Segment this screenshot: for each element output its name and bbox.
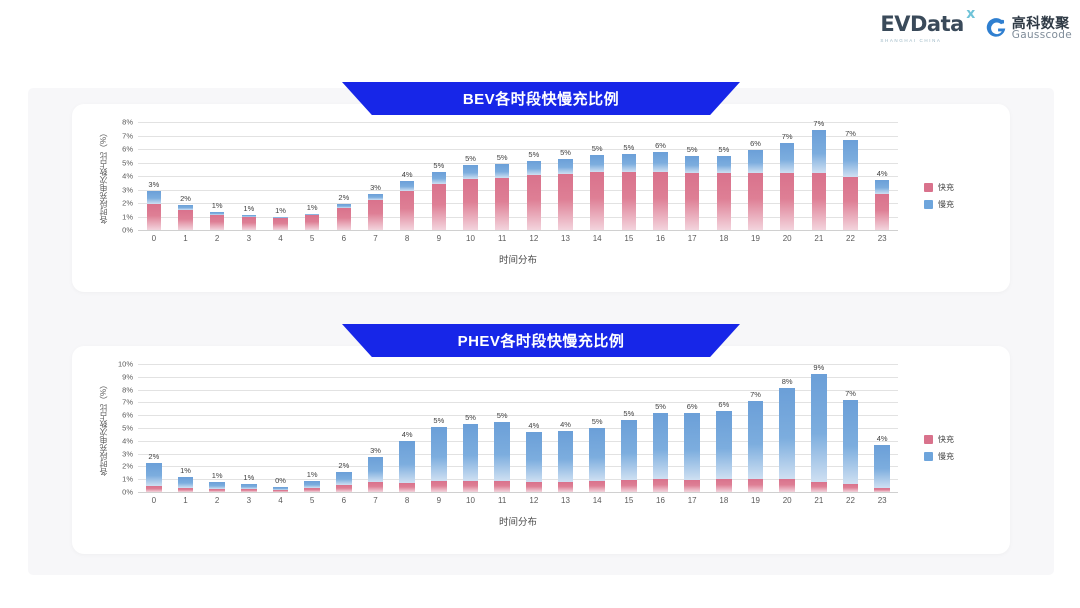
bev-y-tick: 6% bbox=[122, 145, 133, 154]
bev-bar-12[interactable] bbox=[527, 161, 542, 230]
legend-swatch-icon bbox=[924, 435, 933, 444]
bev-x-tick-10: 10 bbox=[466, 234, 475, 243]
phev-bar-label-3: 1% bbox=[243, 473, 254, 482]
phev-bar-19[interactable] bbox=[748, 401, 764, 492]
bev-bar-19[interactable] bbox=[748, 150, 763, 230]
fast-charge-segment bbox=[780, 173, 795, 230]
phev-bar-5[interactable] bbox=[304, 481, 320, 492]
phev-bar-17[interactable] bbox=[684, 413, 700, 492]
bev-y-tick: 3% bbox=[122, 185, 133, 194]
bev-y-tick: 8% bbox=[122, 118, 133, 127]
slow-charge-segment bbox=[779, 388, 795, 479]
bev-x-tick-18: 18 bbox=[719, 234, 728, 243]
bev-bar-5[interactable] bbox=[305, 214, 320, 230]
bev-bar-13[interactable] bbox=[558, 159, 573, 230]
phev-bar-4[interactable] bbox=[273, 487, 289, 492]
phev-chart-card: 各时段充电次数占比（%）0%1%2%3%4%5%6%7%8%9%10%2%01%… bbox=[72, 346, 1010, 554]
bev-y-tick: 7% bbox=[122, 131, 133, 140]
phev-chart-title-ribbon: PHEV各时段快慢充比例 bbox=[342, 324, 740, 357]
bev-y-tick: 4% bbox=[122, 172, 133, 181]
evdata-text: EVData bbox=[880, 12, 963, 36]
bev-bar-15[interactable] bbox=[622, 154, 637, 230]
phev-x-tick-2: 2 bbox=[215, 496, 219, 505]
slow-charge-segment bbox=[653, 413, 669, 480]
gausscode-mark-icon bbox=[986, 18, 1007, 39]
bev-bar-label-10: 5% bbox=[465, 154, 476, 163]
slow-charge-segment bbox=[685, 156, 700, 174]
phev-x-tick-15: 15 bbox=[624, 496, 633, 505]
fast-charge-segment bbox=[811, 482, 827, 492]
bev-y-axis-label: 各时段充电次数占比（%） bbox=[98, 122, 109, 230]
gausscode-logo: 高科数聚 Gausscode bbox=[974, 16, 1072, 42]
phev-x-tick-3: 3 bbox=[247, 496, 251, 505]
phev-bar-label-21: 9% bbox=[813, 363, 824, 372]
slow-charge-segment bbox=[463, 165, 478, 179]
slow-charge-segment bbox=[527, 161, 542, 175]
phev-bar-6[interactable] bbox=[336, 472, 352, 492]
bev-bar-18[interactable] bbox=[717, 156, 732, 230]
bev-x-tick-16: 16 bbox=[656, 234, 665, 243]
slow-charge-segment bbox=[875, 180, 890, 194]
slow-charge-segment bbox=[368, 194, 383, 201]
fast-charge-segment bbox=[242, 217, 257, 230]
fast-charge-segment bbox=[621, 480, 637, 492]
phev-bar-label-7: 3% bbox=[370, 446, 381, 455]
slow-charge-segment bbox=[622, 154, 637, 172]
fast-charge-segment bbox=[337, 208, 352, 230]
gausscode-name-en: Gausscode bbox=[1012, 30, 1072, 41]
phev-bar-label-20: 8% bbox=[782, 377, 793, 386]
bev-bar-11[interactable] bbox=[495, 164, 510, 230]
bev-bar-9[interactable] bbox=[432, 172, 447, 230]
slow-charge-segment bbox=[589, 428, 605, 481]
bev-bar-label-18: 5% bbox=[718, 145, 729, 154]
bev-chart-card: 各时段充电次数占比（%）0%1%2%3%4%5%6%7%8%3%02%11%21… bbox=[72, 104, 1010, 292]
slow-charge-segment bbox=[495, 164, 510, 178]
bev-bar-14[interactable] bbox=[590, 155, 605, 230]
bev-legend: 快充慢充 bbox=[924, 182, 954, 210]
slow-charge-segment bbox=[147, 191, 162, 204]
phev-bar-label-16: 5% bbox=[655, 402, 666, 411]
fast-charge-segment bbox=[812, 173, 827, 230]
phev-x-tick-17: 17 bbox=[688, 496, 697, 505]
fast-charge-segment bbox=[147, 204, 162, 230]
bev-bar-label-1: 2% bbox=[180, 194, 191, 203]
legend-swatch-icon bbox=[924, 200, 933, 209]
phev-y-tick: 2% bbox=[122, 462, 133, 471]
fast-charge-segment bbox=[558, 482, 574, 492]
bev-bar-3[interactable] bbox=[242, 215, 257, 230]
phev-bar-14[interactable] bbox=[589, 428, 605, 492]
fast-charge-segment bbox=[779, 479, 795, 492]
bev-x-tick-3: 3 bbox=[247, 234, 251, 243]
phev-x-tick-16: 16 bbox=[656, 496, 665, 505]
bev-bar-label-19: 6% bbox=[750, 139, 761, 148]
bev-bar-label-0: 3% bbox=[148, 180, 159, 189]
phev-x-tick-4: 4 bbox=[278, 496, 282, 505]
phev-chart: 各时段充电次数占比（%）0%1%2%3%4%5%6%7%8%9%10%2%01%… bbox=[72, 346, 1010, 554]
bev-bar-17[interactable] bbox=[685, 156, 700, 230]
bev-x-tick-20: 20 bbox=[783, 234, 792, 243]
slow-charge-segment bbox=[494, 422, 510, 482]
bev-x-tick-15: 15 bbox=[624, 234, 633, 243]
evdata-subtitle: SHANGHAI CHINA bbox=[880, 38, 941, 43]
bev-bar-label-3: 1% bbox=[243, 204, 254, 213]
phev-bar-label-19: 7% bbox=[750, 390, 761, 399]
phev-x-tick-20: 20 bbox=[783, 496, 792, 505]
bev-x-tick-23: 23 bbox=[878, 234, 887, 243]
bev-bar-1[interactable] bbox=[178, 205, 193, 230]
phev-bar-label-23: 4% bbox=[877, 434, 888, 443]
bev-bar-23[interactable] bbox=[875, 180, 890, 230]
fast-charge-segment bbox=[526, 482, 542, 492]
bev-x-tick-21: 21 bbox=[814, 234, 823, 243]
bev-bar-label-15: 5% bbox=[623, 143, 634, 152]
phev-bar-label-5: 1% bbox=[307, 470, 318, 479]
slow-charge-segment bbox=[812, 130, 827, 173]
bev-x-tick-11: 11 bbox=[498, 234, 506, 243]
gausscode-name-cn: 高科数聚 bbox=[1012, 16, 1072, 31]
phev-bar-9[interactable] bbox=[431, 427, 447, 492]
phev-bar-12[interactable] bbox=[526, 432, 542, 492]
phev-bar-11[interactable] bbox=[494, 422, 510, 492]
phev-legend: 快充慢充 bbox=[924, 434, 954, 462]
bev-x-tick-9: 9 bbox=[437, 234, 441, 243]
bev-bar-label-4: 1% bbox=[275, 206, 286, 215]
fast-charge-segment bbox=[494, 481, 510, 492]
bev-bar-label-8: 4% bbox=[402, 170, 413, 179]
bev-bar-label-12: 5% bbox=[528, 150, 539, 159]
slow-charge-segment bbox=[590, 155, 605, 172]
phev-bar-21[interactable] bbox=[811, 374, 827, 492]
evdata-logo: EVData x SHANGHAI CHINA bbox=[880, 14, 963, 43]
slow-charge-segment bbox=[463, 424, 479, 481]
fast-charge-segment bbox=[368, 482, 384, 492]
phev-bar-3[interactable] bbox=[241, 484, 257, 492]
slow-charge-segment bbox=[431, 427, 447, 481]
fast-charge-segment bbox=[210, 215, 225, 230]
phev-bar-22[interactable] bbox=[843, 400, 859, 492]
slow-charge-segment bbox=[146, 463, 162, 486]
phev-y-tick: 5% bbox=[122, 424, 133, 433]
slow-charge-segment bbox=[558, 431, 574, 482]
slow-charge-segment bbox=[874, 445, 890, 487]
bev-x-tick-4: 4 bbox=[278, 234, 282, 243]
fast-charge-segment bbox=[432, 184, 447, 230]
slow-charge-segment bbox=[368, 457, 384, 481]
phev-y-axis-label: 各时段充电次数占比（%） bbox=[98, 364, 109, 492]
fast-charge-segment bbox=[558, 174, 573, 230]
bev-bar-label-21: 7% bbox=[813, 119, 824, 128]
fast-charge-segment bbox=[748, 479, 764, 492]
bev-bar-4[interactable] bbox=[273, 217, 288, 230]
fast-charge-segment bbox=[241, 489, 257, 492]
slow-charge-segment bbox=[716, 411, 732, 479]
phev-bar-15[interactable] bbox=[621, 420, 637, 492]
gausscode-text: 高科数聚 Gausscode bbox=[1012, 16, 1072, 42]
bev-bar-label-13: 5% bbox=[560, 148, 571, 157]
bev-bar-label-22: 7% bbox=[845, 129, 856, 138]
bev-y-tick: 0% bbox=[122, 226, 133, 235]
fast-charge-segment bbox=[273, 218, 288, 230]
bev-bar-8[interactable] bbox=[400, 181, 415, 230]
phev-y-tick: 8% bbox=[122, 385, 133, 394]
phev-bar-label-6: 2% bbox=[338, 461, 349, 470]
slow-charge-segment bbox=[811, 374, 827, 482]
bev-bar-label-20: 7% bbox=[782, 132, 793, 141]
evdata-x-icon: x bbox=[966, 7, 975, 21]
slow-charge-segment bbox=[621, 420, 637, 480]
fast-charge-segment bbox=[178, 210, 193, 230]
fast-charge-segment bbox=[653, 172, 668, 230]
phev-bar-label-4: 0% bbox=[275, 476, 286, 485]
phev-chart-title: PHEV各时段快慢充比例 bbox=[458, 330, 625, 351]
legend-item-慢充[interactable]: 慢充 bbox=[924, 451, 954, 462]
slow-charge-segment bbox=[558, 159, 573, 174]
bev-bar-label-14: 5% bbox=[592, 144, 603, 153]
bev-bar-label-9: 5% bbox=[433, 161, 444, 170]
fast-charge-segment bbox=[305, 215, 320, 230]
slow-charge-segment bbox=[748, 150, 763, 173]
phev-bar-23[interactable] bbox=[874, 445, 890, 492]
slow-charge-segment bbox=[780, 143, 795, 173]
logo-group: EVData x SHANGHAI CHINA 高科数聚 Gausscode bbox=[880, 14, 1072, 43]
phev-x-tick-11: 11 bbox=[498, 496, 506, 505]
fast-charge-segment bbox=[146, 486, 162, 492]
phev-bar-label-10: 5% bbox=[465, 413, 476, 422]
phev-x-tick-14: 14 bbox=[593, 496, 602, 505]
gridline bbox=[138, 364, 898, 365]
bev-bar-label-5: 1% bbox=[307, 203, 318, 212]
gridline bbox=[138, 122, 898, 123]
bev-bar-label-17: 5% bbox=[687, 145, 698, 154]
slow-charge-segment bbox=[304, 481, 320, 488]
slow-charge-segment bbox=[400, 181, 415, 191]
phev-x-tick-12: 12 bbox=[529, 496, 538, 505]
fast-charge-segment bbox=[875, 194, 890, 230]
bev-bar-7[interactable] bbox=[368, 194, 383, 230]
legend-label: 慢充 bbox=[938, 199, 954, 210]
bev-x-tick-13: 13 bbox=[561, 234, 570, 243]
fast-charge-segment bbox=[589, 481, 605, 492]
fast-charge-segment bbox=[431, 481, 447, 492]
slow-charge-segment bbox=[717, 156, 732, 173]
phev-x-tick-19: 19 bbox=[751, 496, 760, 505]
phev-bar-label-18: 6% bbox=[718, 400, 729, 409]
slow-charge-segment bbox=[209, 482, 225, 489]
slow-charge-segment bbox=[653, 152, 668, 172]
phev-y-tick: 10% bbox=[118, 360, 133, 369]
slow-charge-segment bbox=[843, 140, 858, 178]
bev-x-tick-22: 22 bbox=[846, 234, 855, 243]
phev-bar-16[interactable] bbox=[653, 413, 669, 492]
bev-bar-label-11: 5% bbox=[497, 153, 508, 162]
phev-y-tick: 7% bbox=[122, 398, 133, 407]
fast-charge-segment bbox=[843, 177, 858, 230]
slow-charge-segment bbox=[432, 172, 447, 184]
phev-bar-label-2: 1% bbox=[212, 471, 223, 480]
phev-bar-2[interactable] bbox=[209, 482, 225, 492]
bev-bar-label-7: 3% bbox=[370, 183, 381, 192]
legend-label: 快充 bbox=[938, 182, 954, 193]
phev-bar-0[interactable] bbox=[146, 463, 162, 492]
fast-charge-segment bbox=[400, 191, 415, 230]
phev-bar-18[interactable] bbox=[716, 411, 732, 492]
fast-charge-segment bbox=[399, 483, 415, 492]
bev-bar-10[interactable] bbox=[463, 165, 478, 230]
phev-bar-label-15: 5% bbox=[623, 409, 634, 418]
phev-bar-1[interactable] bbox=[178, 477, 194, 492]
slow-charge-segment bbox=[526, 432, 542, 482]
bev-x-tick-8: 8 bbox=[405, 234, 409, 243]
bev-x-tick-6: 6 bbox=[342, 234, 346, 243]
fast-charge-segment bbox=[495, 178, 510, 230]
phev-y-tick: 6% bbox=[122, 411, 133, 420]
legend-item-慢充[interactable]: 慢充 bbox=[924, 199, 954, 210]
phev-bar-label-22: 7% bbox=[845, 389, 856, 398]
fast-charge-segment bbox=[368, 200, 383, 230]
page-header: EVData x SHANGHAI CHINA 高科数聚 Gausscode bbox=[0, 0, 1080, 62]
fast-charge-segment bbox=[685, 173, 700, 230]
phev-x-tick-5: 5 bbox=[310, 496, 314, 505]
legend-swatch-icon bbox=[924, 183, 933, 192]
phev-x-tick-21: 21 bbox=[814, 496, 823, 505]
legend-label: 慢充 bbox=[938, 451, 954, 462]
bev-x-axis-title: 时间分布 bbox=[138, 252, 898, 266]
x-axis-line bbox=[138, 492, 898, 493]
fast-charge-segment bbox=[717, 173, 732, 230]
legend-item-快充[interactable]: 快充 bbox=[924, 182, 954, 193]
bev-x-tick-19: 19 bbox=[751, 234, 760, 243]
phev-bar-label-12: 4% bbox=[528, 421, 539, 430]
bev-bar-20[interactable] bbox=[780, 143, 795, 230]
phev-y-tick: 4% bbox=[122, 436, 133, 445]
bev-bar-label-16: 6% bbox=[655, 141, 666, 150]
phev-x-tick-13: 13 bbox=[561, 496, 570, 505]
phev-bar-label-0: 2% bbox=[148, 452, 159, 461]
legend-label: 快充 bbox=[938, 434, 954, 445]
phev-x-tick-23: 23 bbox=[878, 496, 887, 505]
phev-bar-label-14: 5% bbox=[592, 417, 603, 426]
phev-bar-13[interactable] bbox=[558, 431, 574, 492]
phev-x-tick-7: 7 bbox=[373, 496, 377, 505]
fast-charge-segment bbox=[463, 179, 478, 230]
bev-bar-21[interactable] bbox=[812, 130, 827, 230]
phev-bar-label-8: 4% bbox=[402, 430, 413, 439]
slow-charge-segment bbox=[843, 400, 859, 484]
fast-charge-segment bbox=[748, 173, 763, 230]
bev-bar-2[interactable] bbox=[210, 212, 225, 230]
phev-bar-label-11: 5% bbox=[497, 411, 508, 420]
fast-charge-segment bbox=[843, 484, 859, 492]
bev-bar-0[interactable] bbox=[147, 191, 162, 230]
phev-bar-8[interactable] bbox=[399, 441, 415, 492]
bev-x-tick-0: 0 bbox=[152, 234, 156, 243]
phev-bar-label-9: 5% bbox=[433, 416, 444, 425]
fast-charge-segment bbox=[653, 479, 669, 492]
fast-charge-segment bbox=[622, 172, 637, 230]
bev-chart-title: BEV各时段快慢充比例 bbox=[463, 88, 619, 109]
bev-x-tick-2: 2 bbox=[215, 234, 219, 243]
phev-bar-label-13: 4% bbox=[560, 420, 571, 429]
phev-x-axis-title: 时间分布 bbox=[138, 514, 898, 528]
bev-bar-16[interactable] bbox=[653, 152, 668, 230]
legend-item-快充[interactable]: 快充 bbox=[924, 434, 954, 445]
phev-bar-7[interactable] bbox=[368, 457, 384, 492]
phev-x-tick-8: 8 bbox=[405, 496, 409, 505]
slow-charge-segment bbox=[178, 477, 194, 489]
bev-bar-label-23: 4% bbox=[877, 169, 888, 178]
phev-bar-10[interactable] bbox=[463, 424, 479, 492]
fast-charge-segment bbox=[273, 490, 289, 492]
bev-x-tick-14: 14 bbox=[593, 234, 602, 243]
bev-bar-6[interactable] bbox=[337, 204, 352, 230]
phev-bar-label-1: 1% bbox=[180, 466, 191, 475]
bev-bar-22[interactable] bbox=[843, 140, 858, 230]
fast-charge-segment bbox=[209, 489, 225, 492]
bev-x-tick-7: 7 bbox=[373, 234, 377, 243]
fast-charge-segment bbox=[336, 485, 352, 492]
evdata-wordmark: EVData x bbox=[880, 14, 963, 35]
fast-charge-segment bbox=[590, 172, 605, 230]
bev-y-tick: 2% bbox=[122, 199, 133, 208]
phev-x-tick-10: 10 bbox=[466, 496, 475, 505]
fast-charge-segment bbox=[716, 479, 732, 492]
fast-charge-segment bbox=[527, 175, 542, 230]
fast-charge-segment bbox=[304, 488, 320, 492]
bev-y-tick: 1% bbox=[122, 212, 133, 221]
phev-bar-20[interactable] bbox=[779, 388, 795, 492]
x-axis-line bbox=[138, 230, 898, 231]
phev-y-tick: 0% bbox=[122, 488, 133, 497]
phev-x-tick-18: 18 bbox=[719, 496, 728, 505]
bev-x-tick-1: 1 bbox=[183, 234, 187, 243]
bev-x-tick-12: 12 bbox=[529, 234, 538, 243]
fast-charge-segment bbox=[684, 480, 700, 492]
bev-x-tick-17: 17 bbox=[688, 234, 697, 243]
phev-y-tick: 3% bbox=[122, 449, 133, 458]
slow-charge-segment bbox=[399, 441, 415, 483]
slow-charge-segment bbox=[336, 472, 352, 485]
bev-bar-label-2: 1% bbox=[212, 201, 223, 210]
phev-y-tick: 9% bbox=[122, 372, 133, 381]
bev-x-tick-5: 5 bbox=[310, 234, 314, 243]
phev-x-tick-22: 22 bbox=[846, 496, 855, 505]
phev-x-tick-0: 0 bbox=[152, 496, 156, 505]
phev-y-tick: 1% bbox=[122, 475, 133, 484]
slow-charge-segment bbox=[748, 401, 764, 479]
bev-y-tick: 5% bbox=[122, 158, 133, 167]
phev-x-tick-6: 6 bbox=[342, 496, 346, 505]
bev-bar-label-6: 2% bbox=[338, 193, 349, 202]
slow-charge-segment bbox=[684, 413, 700, 480]
legend-swatch-icon bbox=[924, 452, 933, 461]
bev-chart: 各时段充电次数占比（%）0%1%2%3%4%5%6%7%8%3%02%11%21… bbox=[72, 104, 1010, 292]
bev-chart-title-ribbon: BEV各时段快慢充比例 bbox=[342, 82, 740, 115]
fast-charge-segment bbox=[874, 488, 890, 492]
phev-x-tick-9: 9 bbox=[437, 496, 441, 505]
fast-charge-segment bbox=[463, 481, 479, 492]
phev-x-tick-1: 1 bbox=[183, 496, 187, 505]
fast-charge-segment bbox=[178, 488, 194, 492]
phev-bar-label-17: 6% bbox=[687, 402, 698, 411]
